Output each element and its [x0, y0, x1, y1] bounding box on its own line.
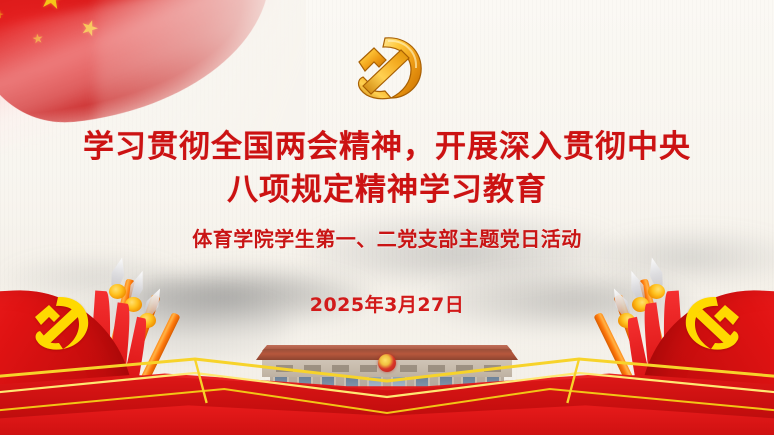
poster-date: 2025年3月27日 — [0, 290, 774, 317]
poster-subtitle: 体育学院学生第一、二党支部主题党日活动 — [0, 223, 774, 252]
flag-fade-mask — [96, 0, 306, 146]
hammer-and-sickle-gold-emblem — [341, 28, 433, 108]
poster-text-block: 学习贯彻全国两会精神，开展深入贯彻中央 八项规定精神学习教育 体育学院学生第一、… — [0, 126, 774, 317]
red-silk-ribbon — [0, 315, 774, 435]
page-title-line-1: 学习贯彻全国两会精神，开展深入贯彻中央 — [0, 126, 774, 169]
poster-canvas: ★ ★ ★ ★ — [0, 0, 774, 435]
page-title-line-2: 八项规定精神学习教育 — [0, 169, 774, 212]
